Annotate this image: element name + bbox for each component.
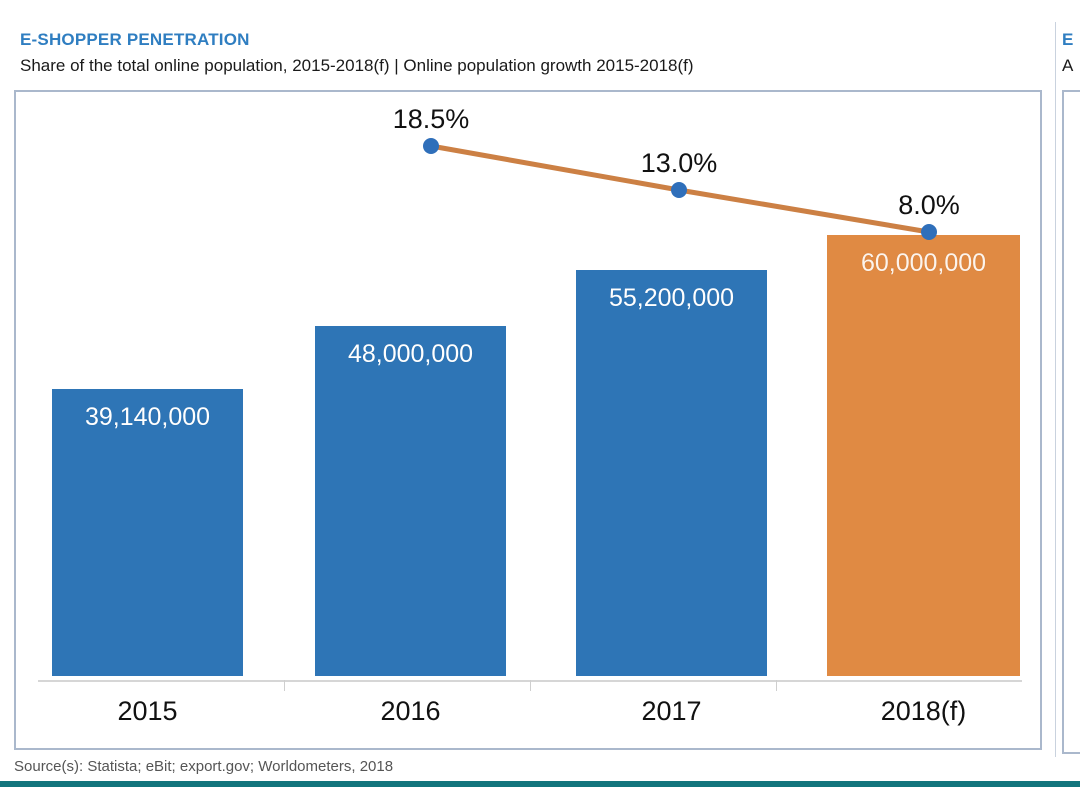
axis-tick	[284, 680, 285, 691]
bar-2017[interactable]: 55,200,000	[576, 270, 767, 676]
chart-plot-area: 39,140,00048,000,00055,200,00060,000,000…	[16, 92, 1040, 748]
panel-divider	[1055, 22, 1056, 757]
x-axis-label-2017: 2017	[546, 696, 797, 727]
bar-2016[interactable]: 48,000,000	[315, 326, 506, 676]
x-axis-label-2016: 2016	[285, 696, 536, 727]
slide-root: E-SHOPPER PENETRATION Share of the total…	[0, 0, 1080, 787]
bottom-accent-bar	[0, 781, 1080, 787]
right-panel-subtitle: A	[1062, 56, 1073, 76]
bar-value-label: 60,000,000	[827, 249, 1020, 278]
x-axis-label-2015: 2015	[22, 696, 273, 727]
bar-value-label: 55,200,000	[576, 284, 767, 313]
line-marker-0[interactable]	[423, 138, 439, 154]
growth-value-label-2: 8.0%	[869, 190, 989, 221]
line-marker-1[interactable]	[671, 182, 687, 198]
right-partial-panel: E A	[1062, 0, 1080, 760]
page-subtitle: Share of the total online population, 20…	[20, 56, 694, 76]
axis-tick	[530, 680, 531, 691]
right-panel-chart-frame	[1062, 90, 1080, 754]
chart-frame: 39,140,00048,000,00055,200,00060,000,000…	[14, 90, 1042, 750]
page-title: E-SHOPPER PENETRATION	[20, 30, 250, 50]
source-note: Source(s): Statista; eBit; export.gov; W…	[14, 758, 393, 775]
bar-value-label: 48,000,000	[315, 340, 506, 369]
growth-value-label-0: 18.5%	[371, 104, 491, 135]
axis-tick	[776, 680, 777, 691]
growth-value-label-1: 13.0%	[619, 148, 739, 179]
right-panel-title: E	[1062, 30, 1073, 50]
bar-value-label: 39,140,000	[52, 403, 243, 432]
bar-2018f[interactable]: 60,000,000	[827, 235, 1020, 676]
x-axis-label-2018f: 2018(f)	[797, 696, 1050, 727]
bar-2015[interactable]: 39,140,000	[52, 389, 243, 676]
